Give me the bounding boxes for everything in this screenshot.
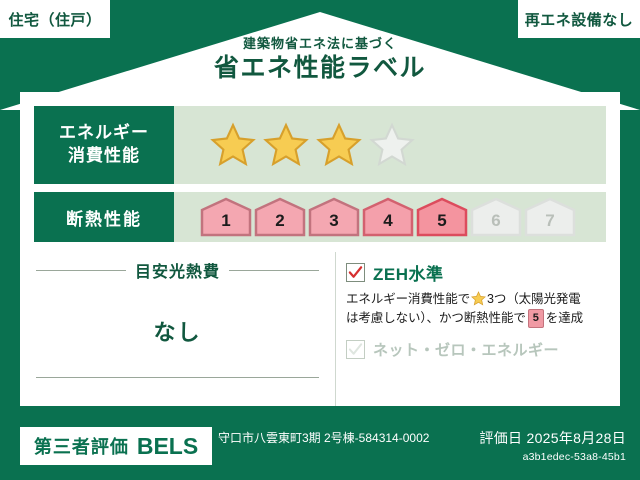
label-footer: 第三者評価 BELS 守口市八雲東町3期 2号棟-584314-0002 評価日…: [0, 418, 640, 480]
label-lower-section: 目安光熱費 なし ZEH水準 エネルギー消費性能で: [20, 252, 620, 406]
renewable-equipment-tag: 再エネ設備なし: [518, 0, 640, 38]
insulation-grade-6: 6: [470, 197, 522, 237]
star-icon-filled-3: [316, 122, 362, 168]
utility-cost-bottom-rule: [36, 377, 319, 378]
insulation-grade-1: 1: [200, 197, 252, 237]
energy-label-root: 住宅（住戸） 再エネ設備なし 建築物省エネ法に基づく 省エネ性能ラベル エネルギ…: [0, 0, 640, 480]
insulation-grade-5: 5: [416, 197, 468, 237]
zeh-desc-stars: 3つ（太陽光発電: [487, 292, 581, 306]
insulation-grade-7: 7: [524, 197, 576, 237]
insulation-grade-2-label: 2: [254, 197, 306, 237]
insulation-grade-4: 4: [362, 197, 414, 237]
bels-jp-label: 第三者評価: [34, 433, 129, 459]
evaluation-date: 評価日 2025年8月28日: [479, 428, 626, 448]
rule-left: [36, 270, 126, 271]
energy-performance-row: エネルギー 消費性能: [34, 106, 606, 184]
insulation-badge-inline: 5: [528, 309, 544, 328]
zeh-title: ZEH水準: [373, 260, 444, 285]
utility-cost-panel: 目安光熱費 なし: [20, 252, 335, 406]
insulation-grade-1-label: 1: [200, 197, 252, 237]
insulation-performance-label: 断熱性能: [34, 192, 174, 242]
net-zero-energy-title: ネット・ゼロ・エネルギー: [373, 339, 559, 360]
insulation-grade-3: 3: [308, 197, 360, 237]
insulation-grade-4-label: 4: [362, 197, 414, 237]
energy-label-line1: エネルギー: [59, 122, 149, 145]
star-icon-empty-4: [369, 122, 415, 168]
property-address: 守口市八雲東町3期 2号棟-584314-0002: [218, 430, 448, 446]
net-zero-energy-row: ネット・ゼロ・エネルギー: [346, 339, 612, 360]
energy-label-line2: 消費性能: [68, 145, 140, 168]
insulation-label-text: 断熱性能: [66, 205, 142, 230]
label-title-block: 建築物省エネ法に基づく 省エネ性能ラベル: [0, 37, 640, 85]
insulation-grade-5-label: 5: [416, 197, 468, 237]
evaluation-id: a3b1edec-53a8-45b1: [479, 451, 626, 463]
insulation-grade-2: 2: [254, 197, 306, 237]
label-card: エネルギー 消費性能 断熱性能: [20, 92, 620, 406]
star-rating: [210, 122, 415, 168]
utility-cost-value: なし: [36, 315, 319, 347]
zeh-header: ZEH水準: [346, 260, 612, 285]
star-icon-inline: [471, 291, 486, 306]
checkmark-icon-checked: [346, 263, 365, 282]
building-type-tag: 住宅（住戸）: [0, 0, 110, 38]
bels-badge: 第三者評価 BELS: [20, 427, 212, 465]
evaluation-meta: 評価日 2025年8月28日 a3b1edec-53a8-45b1: [479, 428, 626, 463]
renewable-equipment-tag-label: 再エネ設備なし: [525, 9, 634, 30]
check-glyph-faded: [348, 342, 363, 357]
insulation-performance-row: 断熱性能 1 2: [34, 192, 606, 242]
rule-right: [229, 270, 319, 271]
zeh-panel: ZEH水準 エネルギー消費性能で 3つ（太陽光発電 は考慮しない）、かつ断熱性能…: [335, 252, 620, 406]
zeh-desc-part3: を達成: [546, 311, 583, 325]
insulation-grade-6-label: 6: [470, 197, 522, 237]
zeh-desc-part2: は考慮しない）、かつ断熱性能で: [346, 311, 526, 325]
building-type-tag-label: 住宅（住戸）: [8, 9, 101, 30]
utility-cost-title: 目安光熱費: [126, 258, 229, 282]
page-title: 省エネ性能ラベル: [0, 53, 640, 84]
insulation-grade-scale: 1 2 3 4: [200, 197, 576, 237]
utility-cost-header: 目安光熱費: [36, 258, 319, 282]
star-icon-filled-2: [263, 122, 309, 168]
insulation-grade-3-label: 3: [308, 197, 360, 237]
check-glyph: [348, 265, 363, 280]
star-icon-filled-1: [210, 122, 256, 168]
insulation-grade-7-label: 7: [524, 197, 576, 237]
energy-performance-label: エネルギー 消費性能: [34, 106, 174, 184]
zeh-desc-part1: エネルギー消費性能で: [346, 292, 470, 306]
checkmark-icon-unchecked: [346, 340, 365, 359]
zeh-description: エネルギー消費性能で 3つ（太陽光発電 は考慮しない）、かつ断熱性能で5を達成: [346, 290, 612, 329]
label-subtitle: 建築物省エネ法に基づく: [0, 37, 640, 51]
bels-en-label: BELS: [137, 433, 198, 460]
